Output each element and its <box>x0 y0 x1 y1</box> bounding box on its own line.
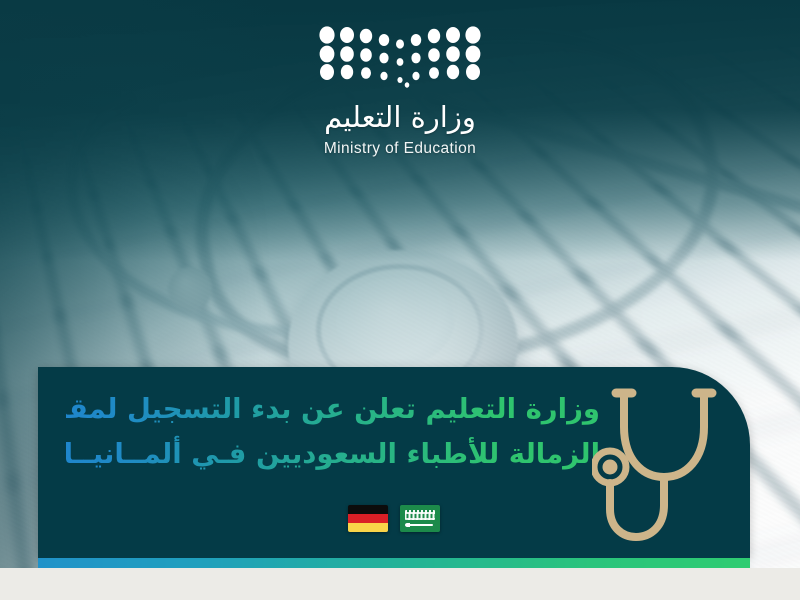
saudi-moe-dot-emblem-icon <box>314 26 486 88</box>
ministry-name-english: Ministry of Education <box>324 140 476 158</box>
headline-line-1: وزارة التعليم تعلن عن بدء التسجيل لمقاعد <box>66 387 600 432</box>
flag-germany-black-band <box>348 505 388 514</box>
ministry-logo: وزارة التعليم Ministry of Education <box>0 26 800 158</box>
poster-root: وزارة التعليم Ministry of Education وزار… <box>0 0 800 600</box>
flag-saudi-arabia <box>400 505 440 532</box>
flag-germany-red-band <box>348 514 388 523</box>
accent-strip <box>38 558 750 568</box>
announcement-card: وزارة التعليم تعلن عن بدء التسجيل لمقاعد… <box>38 367 750 558</box>
flags-row <box>38 505 750 532</box>
flag-germany-gold-band <box>348 523 388 532</box>
flag-saudi-sword <box>407 524 433 526</box>
ministry-name-arabic: وزارة التعليم <box>324 100 476 134</box>
announcement-headline: وزارة التعليم تعلن عن بدء التسجيل لمقاعد… <box>66 387 600 476</box>
flag-germany <box>348 505 388 532</box>
flag-saudi-shahada-script <box>405 510 435 520</box>
headline-line-2: الزمالة للأطباء السعوديين فـي ألمــانيــ… <box>66 432 600 477</box>
